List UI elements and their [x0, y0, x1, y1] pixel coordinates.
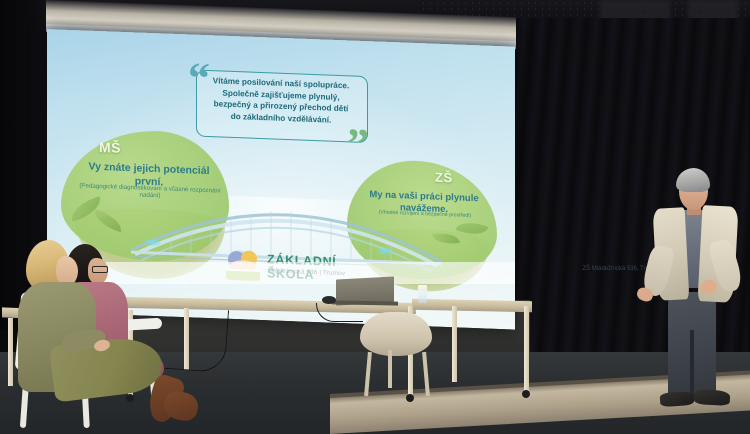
table-leg	[8, 318, 13, 386]
slide-footer-band	[47, 262, 515, 284]
sparkle	[145, 239, 161, 247]
quote-text: Vítáme posilování naší spolupráce. Spole…	[199, 75, 363, 128]
table-leg	[524, 306, 529, 392]
presentation-room-scene: MŠ Vy znáte jejich potenciál první. (Ped…	[0, 0, 750, 434]
presenter-shoe	[660, 391, 695, 407]
ms-label: MŠ	[99, 139, 121, 156]
presenter-leg-split	[690, 330, 694, 400]
glasses	[92, 266, 108, 273]
table-leg	[452, 306, 457, 382]
chair-center[interactable]	[360, 312, 432, 356]
zs-label: ZŠ	[435, 170, 453, 186]
sparkle	[377, 247, 393, 255]
presenter-shoe	[694, 389, 731, 406]
table-caster	[406, 394, 414, 402]
cable	[164, 306, 229, 373]
quote-close-icon: ”	[347, 122, 369, 167]
water-glass	[418, 285, 427, 303]
table-caster	[522, 390, 530, 398]
chair-leg	[388, 350, 392, 388]
table-caster	[126, 394, 134, 402]
